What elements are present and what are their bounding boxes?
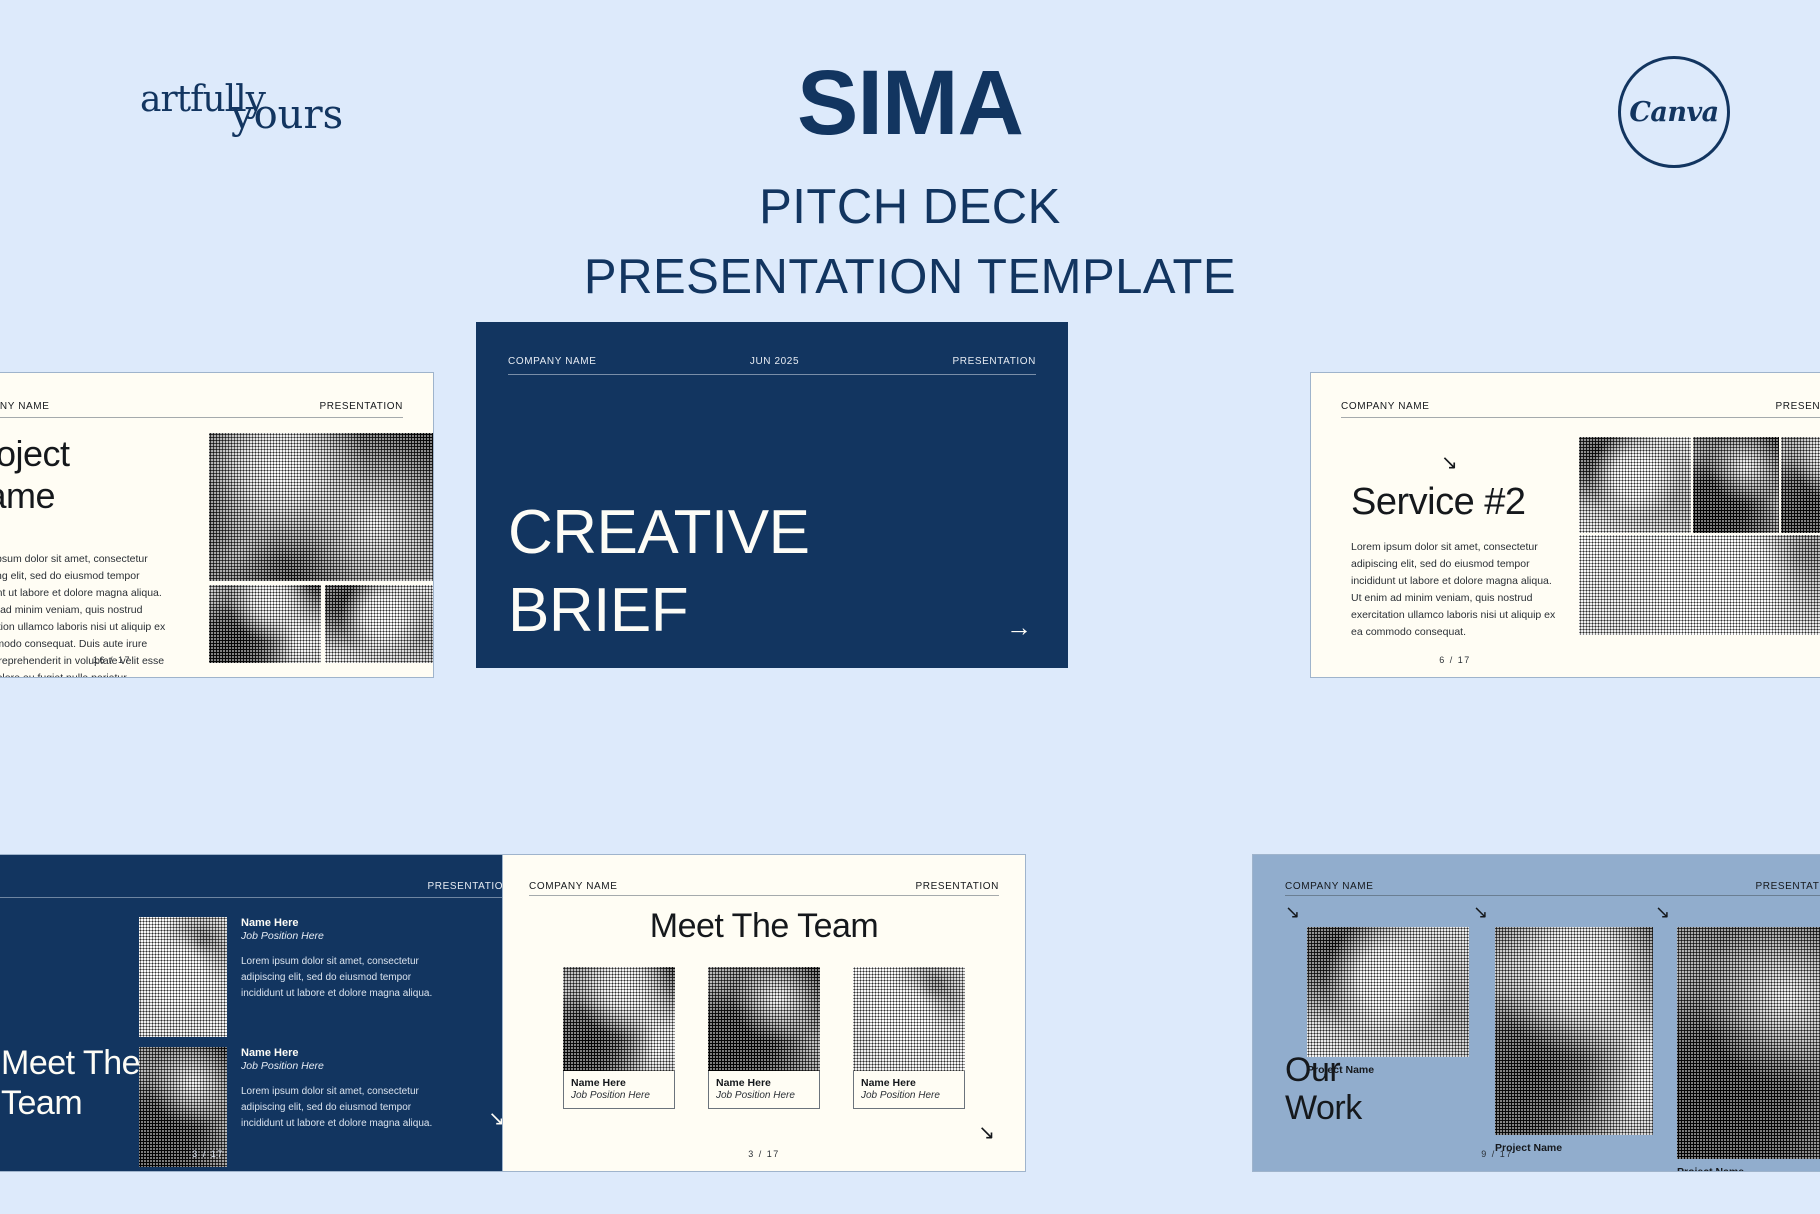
team-member-role: Job Position Here [241,930,441,942]
slide-image-top-mid [1693,437,1779,533]
down-right-arrow-icon: ↘ [1655,903,1670,921]
slide-title: Our Work [1285,1052,1362,1127]
slide-title: CREATIVE BRIEF [508,494,809,649]
project-image [1677,927,1820,1159]
hero-subtitle-line-1: PITCH DECK [0,174,1820,240]
slide-header-rule [1285,895,1820,896]
team-card-role: Job Position Here [861,1090,957,1101]
slide-thumbnail-project-name[interactable]: COMPANY NAME PRESENTATION Project Name ↘… [0,372,434,678]
slide-title-line-2: Team [1,1084,140,1123]
slide-header-label: PRESENTATION [952,356,1036,367]
slide-header: COMPANY NAME PRESENTATION [529,881,999,892]
slide-header-label: PRESENTATION [915,881,999,892]
slide-thumbnail-creative-brief[interactable]: COMPANY NAME JUN 2025 PRESENTATION CREAT… [476,322,1068,668]
team-card-name: Name Here [571,1077,667,1089]
slide-title-line-1: Our [1285,1052,1362,1089]
slide-header-company: COMPANY NAME [0,401,50,412]
slide-page-number: 9 / 17 [1253,1149,1741,1159]
slide-image-top-right [1781,437,1820,533]
slide-header-rule [529,895,999,896]
team-card: Name Here Job Position Here [708,967,820,1109]
team-card-photo [853,967,965,1071]
project-item: ↘ Project Name [1495,927,1653,1154]
slide-title-line-1: CREATIVE [508,494,809,572]
slide-header-rule [0,417,403,418]
hero-heading-block: SIMA PITCH DECK PRESENTATION TEMPLATE [0,55,1820,310]
team-card-photo [708,967,820,1071]
team-card-photo [563,967,675,1071]
slide-title: Meet The Team [1,1044,140,1123]
canva-logo-badge: Canva [1618,56,1730,168]
team-card-caption: Name Here Job Position Here [563,1071,675,1109]
team-member-name: Name Here [241,1047,441,1059]
slide-title-line-2: BRIEF [508,572,809,650]
slide-image-bottom [1579,535,1820,635]
slide-header: COMPANY NAME PRESENTATION [1341,401,1820,412]
team-card-role: Job Position Here [571,1090,667,1101]
slide-header-rule [0,897,511,898]
slide-header-company: COMPANY NAME [1341,401,1430,412]
slide-image-main [209,433,434,581]
slide-title-line-2: Work [1285,1090,1362,1127]
project-image [1307,927,1469,1057]
team-card: Name Here Job Position Here [853,967,965,1109]
slide-header-rule [508,374,1036,375]
team-card-role: Job Position Here [716,1090,812,1101]
down-right-arrow-icon: ↘ [1285,903,1300,921]
slide-page-number: 3 / 17 [503,1149,1025,1159]
slide-header-label: PRESENTATION [1755,881,1820,892]
down-right-arrow-icon: ↘ [1441,453,1458,473]
team-card-name: Name Here [861,1077,957,1089]
slide-title-line-1: Meet The [1,1044,140,1083]
team-member-description: Lorem ipsum dolor sit amet, consectetur … [241,954,441,1002]
slide-thumbnail-our-work[interactable]: COMPANY NAME PRESENTATION ↘ Project Name… [1252,854,1820,1172]
slide-page-number: 16 / 17 [0,655,293,665]
team-member-row: Name Here Job Position Here Lorem ipsum … [139,917,441,1037]
slide-title-line-1: Project [0,433,70,475]
team-member-description: Lorem ipsum dolor sit amet, consectetur … [241,1084,441,1132]
team-member-info: Name Here Job Position Here Lorem ipsum … [241,917,441,1037]
slide-header: COMPANY NAME PRESENTATION [1285,881,1820,892]
slide-image-tertiary [325,585,434,663]
slide-title: Meet The Team [503,907,1025,946]
team-card-list: Name Here Job Position Here Name Here Jo… [563,967,965,1109]
slide-body-text: Lorem ipsum dolor sit amet, consectetur … [1351,539,1559,641]
down-right-arrow-icon: ↘ [978,1123,995,1143]
slide-header: COMPANY NAME JUN 2025 PRESENTATION [508,356,1036,367]
slide-header-company: COMPANY NAME [1285,881,1374,892]
slide-header: COMPANY NAME PRESENTATION [0,401,403,412]
page-title: SIMA [0,55,1820,152]
slide-title: Project Name [0,433,70,518]
team-card-caption: Name Here Job Position Here [853,1071,965,1109]
slide-header-rule [1341,417,1820,418]
slide-thumbnail-team-navy[interactable]: COMPANY NAME PRESENTATION Meet The Team … [0,854,546,1172]
slide-thumbnail-service[interactable]: COMPANY NAME PRESENTATION ↘ Service #2 L… [1310,372,1820,678]
project-image [1495,927,1653,1135]
team-card: Name Here Job Position Here [563,967,675,1109]
canva-wordmark: Canva [1629,97,1718,128]
project-name: Project Name [1677,1166,1820,1172]
right-arrow-icon: → [1006,614,1032,640]
slide-page-number: 3 / 17 [61,1149,355,1159]
hero-subtitle-line-2: PRESENTATION TEMPLATE [0,244,1820,310]
slide-title-line-2: Name [0,475,70,517]
slide-header-label: PRESENTATION [319,401,403,412]
slide-header-date: JUN 2025 [750,356,799,367]
slide-thumbnail-team-cream[interactable]: COMPANY NAME PRESENTATION Meet The Team … [502,854,1026,1172]
team-card-name: Name Here [716,1077,812,1089]
slide-header-company: COMPANY NAME [529,881,618,892]
team-member-photo [139,917,227,1037]
slide-header-label: PRESENTATION [427,881,511,892]
team-member-role: Job Position Here [241,1060,441,1072]
slide-image-secondary [209,585,321,663]
team-member-name: Name Here [241,917,441,929]
slide-header-company: COMPANY NAME [508,356,597,367]
project-item: ↘ Project Name [1677,927,1820,1172]
slide-page-number: 6 / 17 [1311,655,1599,665]
down-right-arrow-icon: ↘ [1473,903,1488,921]
slide-title: Service #2 [1351,481,1526,524]
slide-image-top-left [1579,437,1691,533]
slide-header-label: PRESENTATION [1775,401,1820,412]
team-card-caption: Name Here Job Position Here [708,1071,820,1109]
slide-header: COMPANY NAME PRESENTATION [0,881,511,892]
